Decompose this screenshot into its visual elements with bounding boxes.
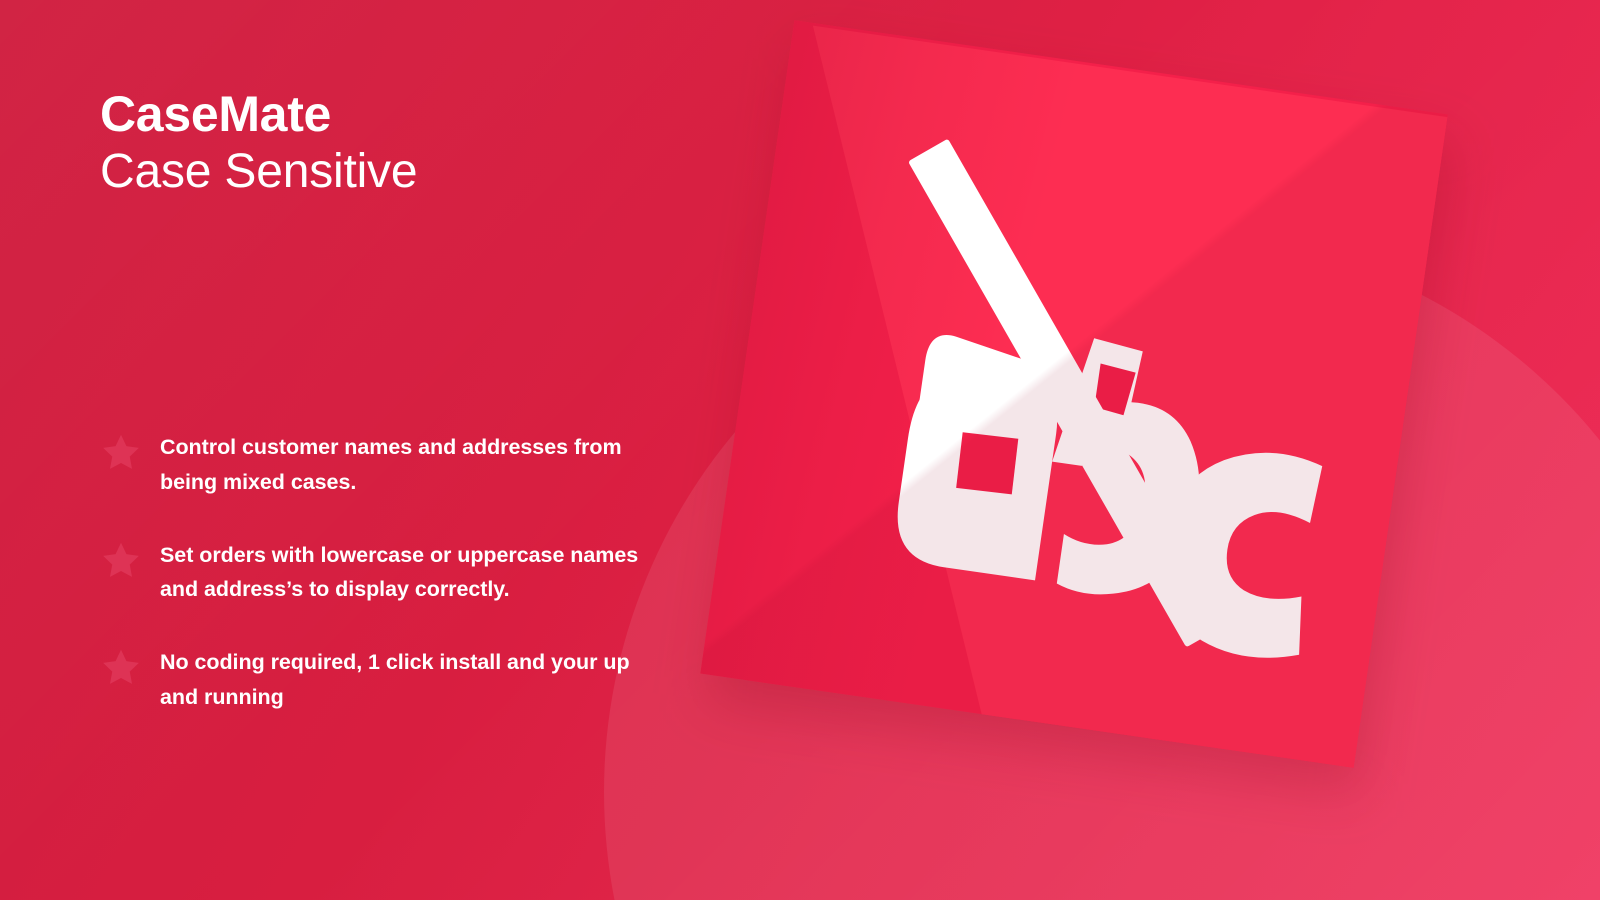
app-icon-card bbox=[700, 20, 1447, 767]
feature-text: Control customer names and addresses fro… bbox=[160, 430, 650, 500]
app-icon-card-face bbox=[700, 20, 1447, 767]
content-column: CaseMate Case Sensitive Control customer… bbox=[0, 0, 700, 900]
feature-text: Set orders with lowercase or uppercase n… bbox=[160, 538, 650, 608]
feature-text: No coding required, 1 click install and … bbox=[160, 645, 650, 715]
promo-banner: CaseMate Case Sensitive Control customer… bbox=[0, 0, 1600, 900]
feature-list: Control customer names and addresses fro… bbox=[100, 430, 660, 715]
card-glyph-shadow-overlay bbox=[700, 20, 1447, 767]
star-icon bbox=[100, 540, 142, 582]
feature-item: Set orders with lowercase or uppercase n… bbox=[100, 538, 660, 608]
title-block: CaseMate Case Sensitive bbox=[100, 86, 417, 201]
feature-item: Control customer names and addresses fro… bbox=[100, 430, 660, 500]
page-subtitle: Case Sensitive bbox=[100, 144, 417, 201]
page-title: CaseMate bbox=[100, 86, 417, 142]
feature-item: No coding required, 1 click install and … bbox=[100, 645, 660, 715]
star-icon bbox=[100, 647, 142, 689]
star-icon bbox=[100, 432, 142, 474]
